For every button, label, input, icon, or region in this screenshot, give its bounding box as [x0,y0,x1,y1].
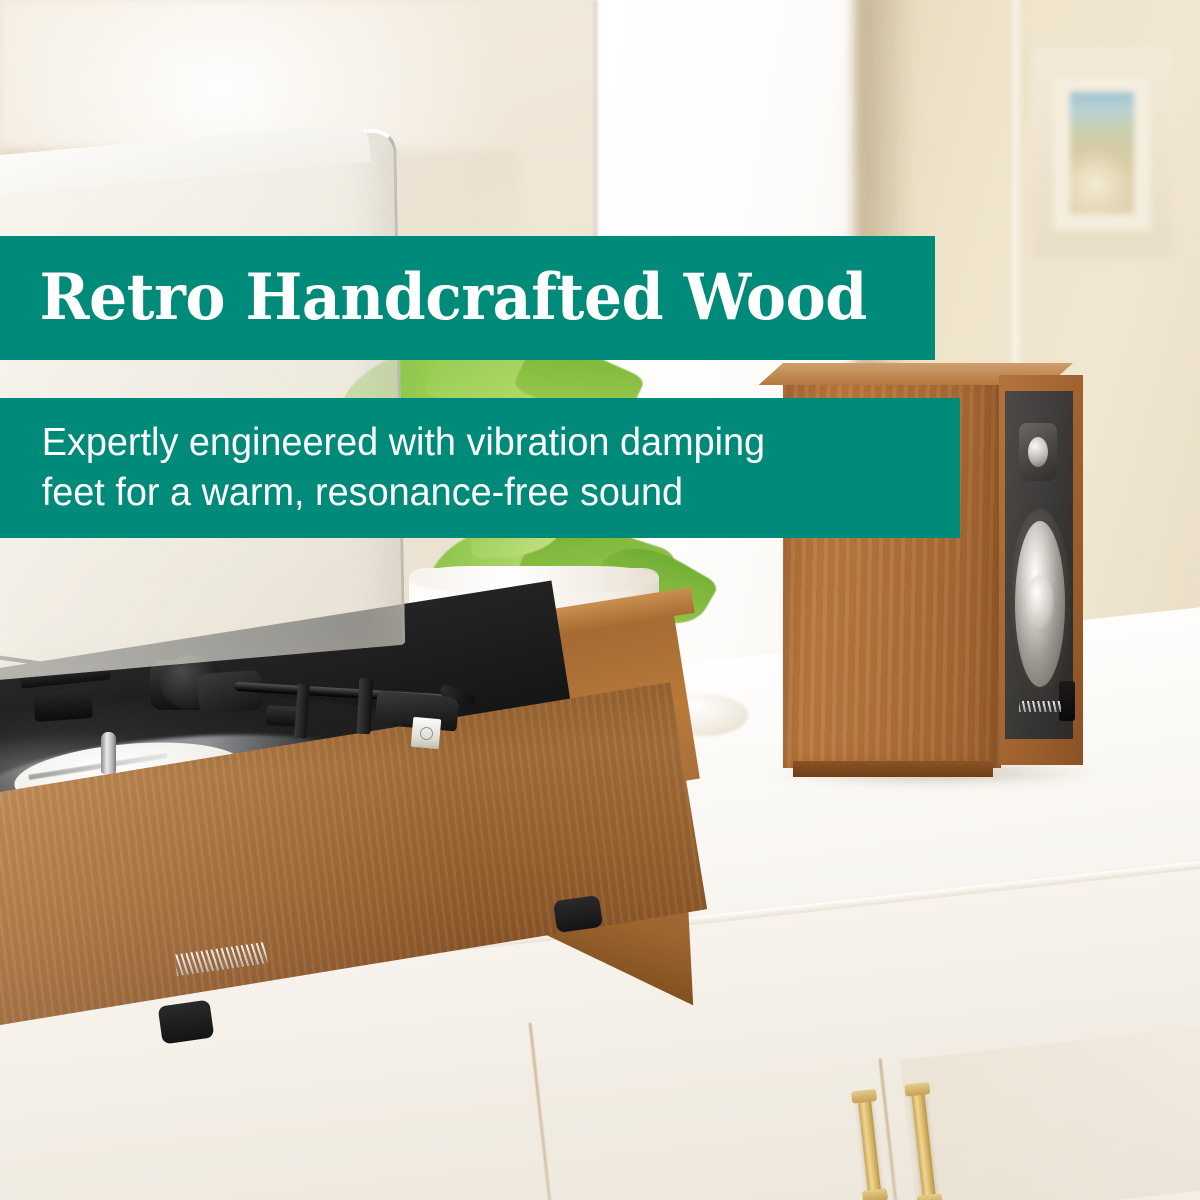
vibration-damping-foot [553,895,603,933]
vibration-damping-foot [158,1000,215,1045]
speaker-foot [793,761,993,777]
headline-text: Retro Handcrafted Wood [0,265,867,330]
tonearm-pivot [197,670,264,714]
artwork-image [1070,92,1134,214]
subheadline-banner: Expertly engineered with vibration dampi… [0,398,960,538]
subheadline-line-1: Expertly engineered with vibration dampi… [0,418,765,468]
speaker-brand-badge [1019,701,1061,712]
dust-cover-hinge [33,688,93,722]
speaker-woofer-dustcap [1026,575,1054,633]
speaker-tweeter-dome [1028,437,1048,467]
product-photo [0,0,1200,1200]
subheadline-block: Expertly engineered with vibration dampi… [0,418,789,518]
framed-artwork [1032,48,1172,258]
promo-image: Retro Handcrafted Wood Expertly engineer… [0,0,1200,1200]
headline-banner: Retro Handcrafted Wood [0,236,935,360]
turntable-spindle [101,732,116,774]
speaker-control-knobs [1059,681,1075,721]
tonearm-cue-lever [357,678,374,735]
subheadline-line-2: feet for a warm, resonance-free sound [0,468,765,518]
